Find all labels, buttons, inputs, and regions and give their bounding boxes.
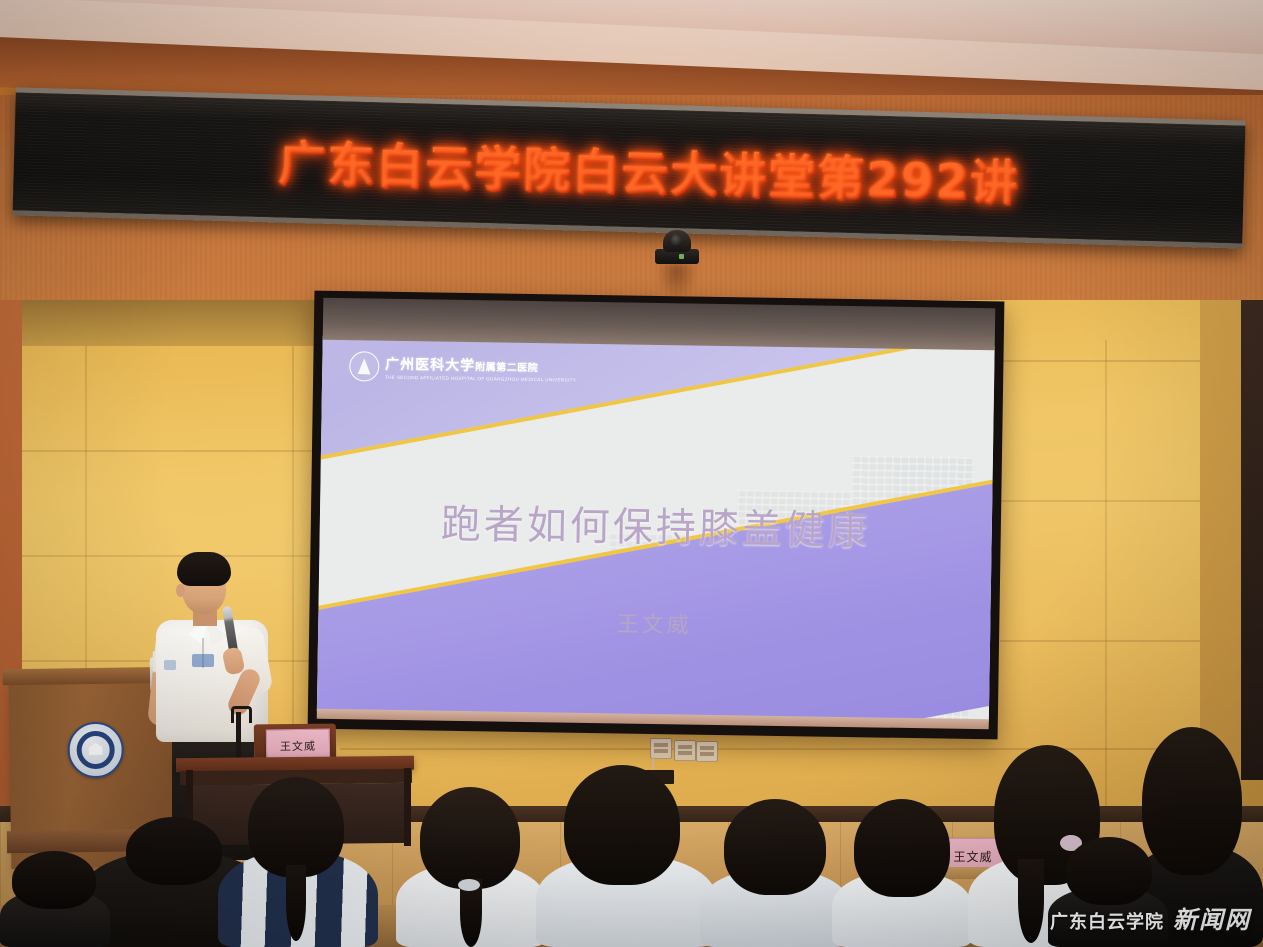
camera-lens-icon <box>671 234 682 247</box>
led-banner-text: 广东白云学院白云大讲堂第292讲 <box>278 124 1021 213</box>
audience-ponytail <box>1018 859 1044 943</box>
audience-hair <box>564 765 680 885</box>
wall-socket <box>674 740 696 761</box>
audience-hair <box>420 787 520 889</box>
speaker-ear <box>176 584 185 597</box>
audience-member <box>218 772 378 947</box>
audience-hair <box>1066 837 1152 905</box>
hair-tie <box>458 879 480 891</box>
socket-slot <box>678 751 692 755</box>
watermark-institution: 广东白云学院 <box>1050 908 1164 934</box>
speaker-hair <box>177 552 231 586</box>
shirt-chest-logo <box>192 654 214 667</box>
wall-seam <box>22 450 332 452</box>
wall-seam <box>1105 340 1107 810</box>
socket-slot <box>654 743 668 747</box>
wall-socket <box>650 738 672 759</box>
presentation-slide: 广州医科大学附属第二医院 THE SECOND AFFILIATED HOSPI… <box>317 336 995 722</box>
socket-slot <box>654 749 668 753</box>
university-seal-icon <box>67 722 124 779</box>
audience-hair <box>12 851 96 909</box>
hospital-name-main: 广州医科大学 <box>385 357 475 374</box>
audience-member <box>700 797 850 947</box>
microphone-stand <box>236 712 241 760</box>
watermark: 广东白云学院 新闻网 <box>1050 900 1251 935</box>
socket-slot <box>678 745 692 749</box>
audience-member <box>832 797 972 947</box>
audience-hair <box>248 777 344 877</box>
socket-slot <box>700 746 714 750</box>
camera-status-led <box>679 254 684 259</box>
audience-ponytail <box>286 865 306 941</box>
right-dark-column <box>1241 300 1263 780</box>
stage-placard-text: 王文威 <box>280 738 316 755</box>
audience-member <box>396 787 546 947</box>
microphone-clip-icon <box>231 706 252 723</box>
hospital-name-sub: 附属第二医院 <box>475 362 538 374</box>
hospital-logo-cn: 广州医科大学附属第二医院 <box>385 354 576 377</box>
ptz-camera-icon <box>655 230 699 270</box>
hospital-logo: 广州医科大学附属第二医院 THE SECOND AFFILIATED HOSPI… <box>349 351 577 385</box>
audience-member <box>0 852 110 947</box>
audience-hair <box>126 817 222 885</box>
hospital-seal-icon <box>349 351 379 381</box>
socket-slot <box>700 752 714 756</box>
shirt-sleeve-logo <box>164 660 176 670</box>
audience-member <box>536 762 716 947</box>
projection-screen: 广州医科大学附属第二医院 THE SECOND AFFILIATED HOSPI… <box>308 291 1005 740</box>
audience-hair <box>724 799 826 895</box>
audience-hair <box>854 799 950 897</box>
wall-alcove-header <box>22 300 332 346</box>
wall-socket <box>696 741 718 762</box>
slide-title: 跑者如何保持膝盖健康 <box>319 489 992 558</box>
camera-shadow <box>657 264 697 300</box>
watermark-outlet: 新闻网 <box>1173 900 1251 935</box>
screen-surface: 广州医科大学附属第二医院 THE SECOND AFFILIATED HOSPI… <box>317 336 995 722</box>
lecture-hall-photo: 广东白云学院白云大讲堂第292讲 <box>0 0 1263 947</box>
